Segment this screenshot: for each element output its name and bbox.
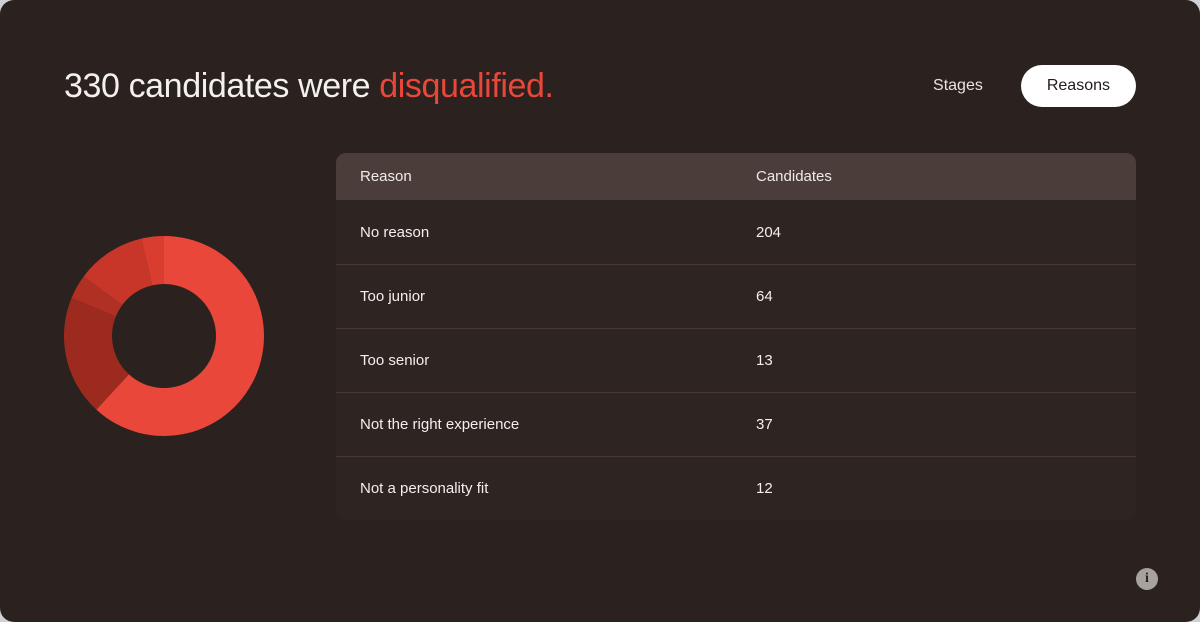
cell-reason: Not a personality fit xyxy=(336,480,736,497)
cell-reason: Not the right experience xyxy=(336,416,736,433)
page-title-accent: disqualified. xyxy=(379,67,553,105)
cell-candidates: 64 xyxy=(736,288,1136,305)
cell-reason: No reason xyxy=(336,224,736,241)
info-icon[interactable]: i xyxy=(1136,568,1158,590)
table-row[interactable]: No reason204 xyxy=(336,200,1136,264)
tab-stages[interactable]: Stages xyxy=(907,65,1009,107)
cell-candidates: 12 xyxy=(736,480,1136,497)
disqualification-donut-chart xyxy=(64,236,264,436)
cell-reason: Too senior xyxy=(336,352,736,369)
report-canvas: 330 candidates were disqualified. Stages… xyxy=(0,0,1200,622)
table-header-row: Reason Candidates xyxy=(336,153,1136,200)
donut-svg xyxy=(64,236,264,436)
column-header-reason: Reason xyxy=(336,168,736,185)
reasons-table: Reason Candidates No reason204Too junior… xyxy=(336,153,1136,520)
cell-candidates: 204 xyxy=(736,224,1136,241)
page-title-prefix: 330 candidates were xyxy=(64,67,379,105)
cell-reason: Too junior xyxy=(336,288,736,305)
tab-reasons[interactable]: Reasons xyxy=(1021,65,1136,107)
table-row[interactable]: Too junior64 xyxy=(336,264,1136,328)
header: 330 candidates were disqualified. Stages… xyxy=(64,58,1136,114)
cell-candidates: 13 xyxy=(736,352,1136,369)
column-header-candidates: Candidates xyxy=(736,168,1136,185)
view-toggle: Stages Reasons xyxy=(907,65,1136,107)
table-row[interactable]: Too senior13 xyxy=(336,328,1136,392)
table-body: No reason204Too junior64Too senior13Not … xyxy=(336,200,1136,520)
table-row[interactable]: Not a personality fit12 xyxy=(336,456,1136,520)
page-title: 330 candidates were disqualified. xyxy=(64,67,554,106)
donut-slices xyxy=(64,236,264,436)
table-row[interactable]: Not the right experience37 xyxy=(336,392,1136,456)
cell-candidates: 37 xyxy=(736,416,1136,433)
